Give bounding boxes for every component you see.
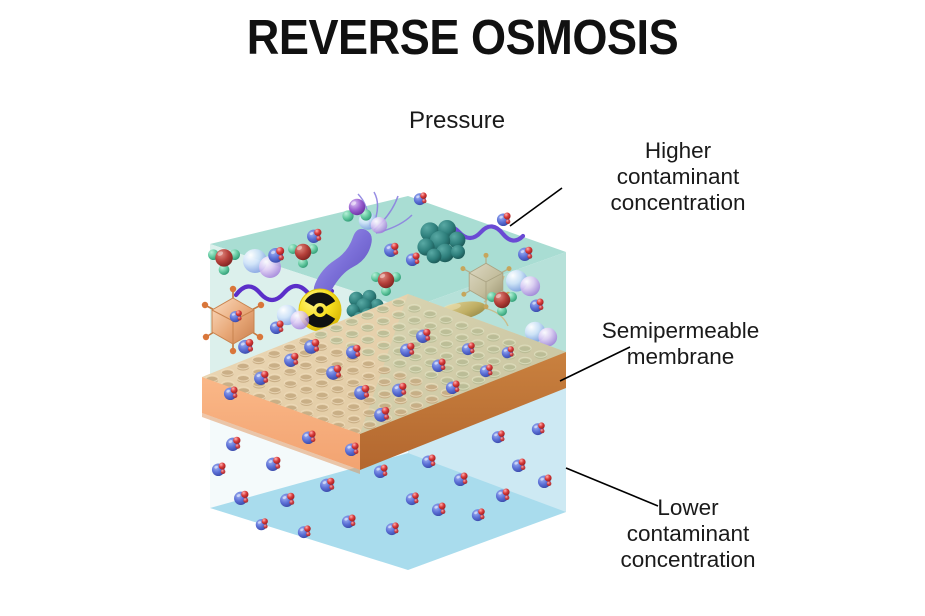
membrane-pore bbox=[316, 405, 328, 412]
membrane-pore bbox=[394, 398, 406, 405]
membrane-pore bbox=[408, 318, 420, 325]
membrane-pore bbox=[440, 330, 452, 337]
membrane-pore bbox=[535, 352, 547, 359]
membrane-pore bbox=[472, 378, 484, 385]
membrane-pore bbox=[269, 375, 281, 382]
membrane-pore bbox=[268, 363, 280, 370]
membrane-pore bbox=[456, 335, 468, 342]
page-title: REVERSE OSMOSIS bbox=[37, 10, 888, 66]
membrane-pore bbox=[361, 325, 373, 332]
membrane-pore bbox=[332, 399, 344, 406]
membrane-pore bbox=[410, 403, 422, 410]
membrane-pore bbox=[410, 391, 422, 398]
membrane-pore bbox=[487, 347, 499, 354]
membrane-pore bbox=[503, 365, 515, 372]
membrane-pore bbox=[348, 417, 360, 424]
membrane-pore bbox=[379, 392, 391, 399]
membrane-pore bbox=[252, 357, 264, 364]
leader-line-higher bbox=[510, 188, 562, 226]
membrane-pore bbox=[393, 324, 405, 331]
membrane-pore bbox=[378, 343, 390, 350]
membrane-pore bbox=[378, 380, 390, 387]
membrane-pore bbox=[394, 373, 406, 380]
membrane-pore bbox=[378, 367, 390, 374]
membrane-pore bbox=[346, 319, 358, 326]
membrane-pore bbox=[377, 306, 389, 313]
membrane-pore bbox=[456, 360, 468, 367]
membrane-pore bbox=[361, 313, 373, 320]
membrane-pore bbox=[378, 355, 390, 362]
membrane-pore bbox=[472, 353, 484, 360]
membrane-pore bbox=[363, 398, 375, 405]
membrane-pore bbox=[362, 362, 374, 369]
membrane-pore bbox=[424, 312, 436, 319]
membrane-pore bbox=[377, 331, 389, 338]
membrane-pore bbox=[426, 397, 438, 404]
membrane-pore bbox=[425, 373, 437, 380]
membrane-pore bbox=[394, 361, 406, 368]
membrane-pore bbox=[331, 350, 343, 357]
membrane-pore bbox=[332, 411, 344, 418]
membrane-pore bbox=[425, 385, 437, 392]
membrane-pore bbox=[300, 399, 312, 406]
membrane-pore bbox=[347, 368, 359, 375]
membrane-pore bbox=[362, 337, 374, 344]
membrane-pore bbox=[440, 317, 452, 324]
membrane-pore bbox=[364, 422, 376, 429]
water-molecule-icon bbox=[497, 213, 511, 227]
membrane-pore bbox=[363, 410, 375, 417]
membrane-pore bbox=[519, 359, 531, 366]
membrane-pore bbox=[347, 380, 359, 387]
membrane-pore bbox=[503, 341, 515, 348]
membrane-pore bbox=[377, 319, 389, 326]
membrane-pore bbox=[348, 404, 360, 411]
membrane-pore bbox=[440, 342, 452, 349]
membrane-pore bbox=[316, 381, 328, 388]
membrane-pore bbox=[300, 375, 312, 382]
membrane-pore bbox=[519, 346, 531, 353]
membrane-pore bbox=[284, 345, 296, 352]
membrane-pore bbox=[331, 386, 343, 393]
membrane-pore bbox=[471, 329, 483, 336]
membrane-pore bbox=[237, 376, 249, 383]
membrane-pore bbox=[269, 388, 281, 395]
membrane-pore bbox=[393, 337, 405, 344]
membrane-pore bbox=[409, 367, 421, 374]
membrane-pore bbox=[410, 379, 422, 386]
membrane-pore bbox=[237, 364, 249, 371]
membrane-pore bbox=[315, 356, 327, 363]
diagram-stage: REVERSE OSMOSIS bbox=[0, 0, 925, 616]
membrane-pore bbox=[456, 323, 468, 330]
membrane-pore bbox=[330, 326, 342, 333]
membrane-pore bbox=[408, 306, 420, 313]
membrane-pore bbox=[315, 369, 327, 376]
membrane-pore bbox=[395, 410, 407, 417]
membrane-pore bbox=[316, 393, 328, 400]
membrane-pore bbox=[346, 331, 358, 338]
membrane-pore bbox=[300, 387, 312, 394]
membrane-pore bbox=[457, 372, 469, 379]
membrane-pore bbox=[221, 370, 233, 377]
membrane-pore bbox=[409, 355, 421, 362]
membrane-pore bbox=[362, 349, 374, 356]
membrane-pore bbox=[330, 338, 342, 345]
label-semipermeable-membrane: Semipermeable membrane bbox=[568, 318, 793, 370]
membrane-pore bbox=[284, 381, 296, 388]
membrane-pore bbox=[315, 332, 327, 339]
membrane-pore bbox=[363, 374, 375, 381]
membrane-pore bbox=[268, 351, 280, 358]
membrane-pore bbox=[392, 300, 404, 307]
membrane-pore bbox=[284, 369, 296, 376]
membrane-pore bbox=[300, 363, 312, 370]
membrane-pore bbox=[425, 348, 437, 355]
membrane-pore bbox=[285, 393, 297, 400]
membrane-pore bbox=[487, 335, 499, 342]
label-pressure: Pressure bbox=[409, 108, 505, 134]
label-higher-contaminant-concentration: Higher contaminant concentration bbox=[568, 138, 788, 216]
membrane-pore bbox=[393, 312, 405, 319]
label-lower-contaminant-concentration: Lower contaminant concentration bbox=[578, 495, 798, 573]
